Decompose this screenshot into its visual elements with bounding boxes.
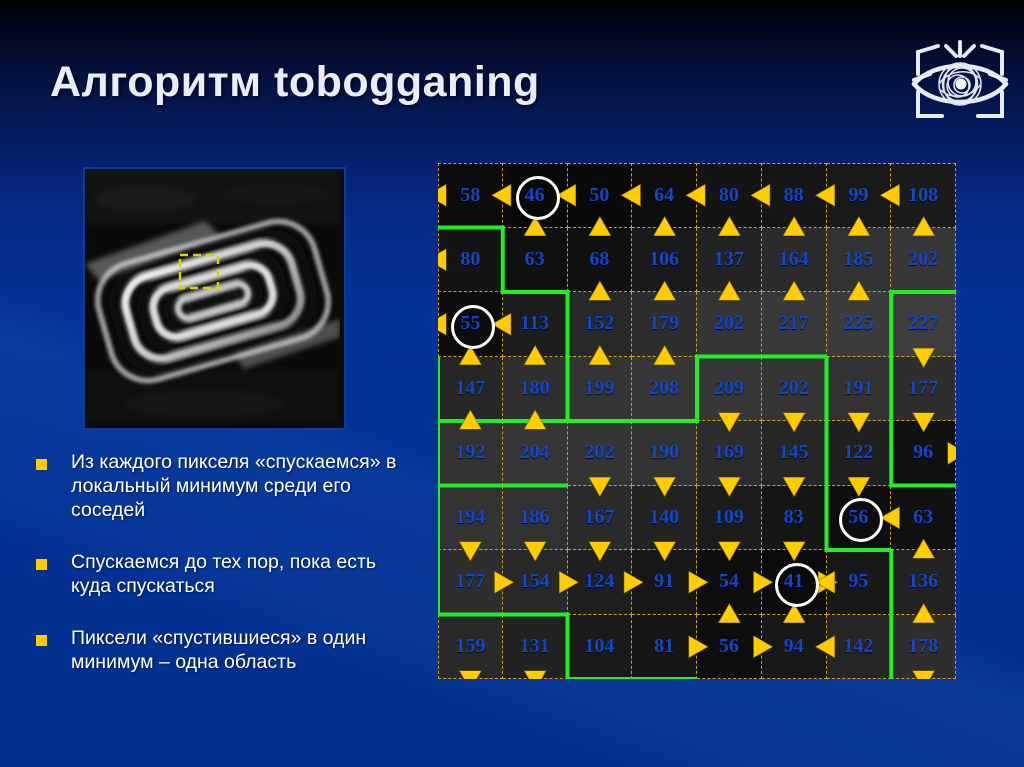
grid-cell: 106 — [632, 228, 697, 293]
cell-value: 140 — [649, 506, 679, 529]
cell-value: 91 — [654, 570, 674, 593]
grid-cell: 108 — [891, 163, 956, 228]
grid-cell: 94 — [762, 615, 827, 680]
grid-cell: 50 — [568, 163, 633, 228]
grid-cell: 217 — [762, 292, 827, 357]
grid-cell: 202 — [762, 357, 827, 422]
tobogganing-grid: 5846506480889910880636810613716418520255… — [438, 163, 956, 679]
grid-cell: 185 — [827, 228, 892, 293]
cell-value: 202 — [908, 248, 938, 271]
grid-cell: 96 — [891, 421, 956, 486]
cell-value: 55 — [460, 312, 480, 335]
cell-value: 41 — [784, 570, 804, 593]
grid-cell: 140 — [632, 486, 697, 551]
eye-logo-icon — [908, 34, 1012, 130]
cell-value: 109 — [714, 506, 744, 529]
cell-value: 124 — [584, 570, 614, 593]
grid-cell: 41 — [762, 550, 827, 615]
grid-cell: 178 — [891, 615, 956, 680]
cell-value: 63 — [913, 506, 933, 529]
slide-root: Алгоритм tobogganing — [0, 0, 1024, 767]
cell-value: 192 — [455, 441, 485, 464]
grid-cell: 159 — [438, 615, 503, 680]
cell-value: 145 — [779, 441, 809, 464]
grid-cell: 209 — [697, 357, 762, 422]
grid-cell: 186 — [503, 486, 568, 551]
grid-cell: 91 — [632, 550, 697, 615]
grid-cell: 190 — [632, 421, 697, 486]
cell-value: 58 — [460, 184, 480, 207]
grid-cell: 191 — [827, 357, 892, 422]
cell-value: 137 — [714, 248, 744, 271]
cell-value: 225 — [843, 312, 873, 335]
grid-cell: 56 — [697, 615, 762, 680]
grid-cell: 80 — [697, 163, 762, 228]
cell-value: 208 — [649, 377, 679, 400]
cell-value: 179 — [649, 312, 679, 335]
grid-cell: 54 — [697, 550, 762, 615]
grid-cell: 192 — [438, 421, 503, 486]
cell-value: 88 — [784, 184, 804, 207]
cell-value: 113 — [520, 312, 549, 335]
cell-value: 80 — [460, 248, 480, 271]
cell-value: 81 — [654, 635, 674, 658]
cell-value: 95 — [848, 570, 868, 593]
cell-value: 202 — [714, 312, 744, 335]
bullet-text: Пиксели «спустившиеся» в один минимум – … — [71, 626, 406, 674]
cell-value: 99 — [848, 184, 868, 207]
cell-value: 104 — [584, 635, 614, 658]
cell-value: 83 — [784, 506, 804, 529]
cell-value: 131 — [520, 635, 550, 658]
cell-value: 80 — [719, 184, 739, 207]
grid-cell: 177 — [891, 357, 956, 422]
grid-cell: 225 — [827, 292, 892, 357]
cell-value: 167 — [584, 506, 614, 529]
cell-value: 199 — [584, 377, 614, 400]
cell-value: 50 — [589, 184, 609, 207]
list-item: Спускаемся до тех пор, пока есть куда сп… — [36, 550, 406, 598]
grid-cell: 202 — [697, 292, 762, 357]
grid-cell: 56 — [827, 486, 892, 551]
grid-cell: 137 — [697, 228, 762, 293]
grid-cell: 167 — [568, 486, 633, 551]
cell-value: 159 — [455, 635, 485, 658]
grid-cell: 199 — [568, 357, 633, 422]
list-item: Из каждого пикселя «спускаемся» в локаль… — [36, 450, 406, 522]
grid-cell: 194 — [438, 486, 503, 551]
cell-value: 217 — [779, 312, 809, 335]
grid-cell: 145 — [762, 421, 827, 486]
grid-cell: 177 — [438, 550, 503, 615]
cell-value: 191 — [843, 377, 873, 400]
grid-cell: 169 — [697, 421, 762, 486]
grid-cell: 136 — [891, 550, 956, 615]
grid-cell: 46 — [503, 163, 568, 228]
grid-cell: 63 — [503, 228, 568, 293]
cell-value: 56 — [719, 635, 739, 658]
cell-value: 194 — [455, 506, 485, 529]
grid-cell: 227 — [891, 292, 956, 357]
cell-value: 147 — [455, 377, 485, 400]
grid-cell: 124 — [568, 550, 633, 615]
grid-cell: 109 — [697, 486, 762, 551]
grid-cell: 88 — [762, 163, 827, 228]
grid-cell: 202 — [891, 228, 956, 293]
cell-value: 96 — [913, 441, 933, 464]
cell-value: 154 — [520, 570, 550, 593]
cell-value: 169 — [714, 441, 744, 464]
cell-value: 185 — [843, 248, 873, 271]
cell-value: 64 — [654, 184, 674, 207]
grid-cell: 80 — [438, 228, 503, 293]
cell-value: 202 — [779, 377, 809, 400]
cell-value: 56 — [848, 506, 868, 529]
grid-cell: 147 — [438, 357, 503, 422]
grid-cell: 83 — [762, 486, 827, 551]
grid-cell: 81 — [632, 615, 697, 680]
grid-cell: 131 — [503, 615, 568, 680]
bullet-text: Из каждого пикселя «спускаемся» в локаль… — [71, 450, 406, 522]
grid-cell: 68 — [568, 228, 633, 293]
cell-value: 204 — [520, 441, 550, 464]
cell-value: 209 — [714, 377, 744, 400]
cell-value: 177 — [455, 570, 485, 593]
grid-cell: 58 — [438, 163, 503, 228]
list-item: Пиксели «спустившиеся» в один минимум – … — [36, 626, 406, 674]
cell-value: 152 — [584, 312, 614, 335]
bullet-square-icon — [36, 459, 47, 470]
grid-cell: 95 — [827, 550, 892, 615]
cell-value: 94 — [784, 635, 804, 658]
grid-cell: 164 — [762, 228, 827, 293]
cell-value: 106 — [649, 248, 679, 271]
cell-value: 54 — [719, 570, 739, 593]
cell-value: 164 — [779, 248, 809, 271]
bullet-square-icon — [36, 559, 47, 570]
bullet-text: Спускаемся до тех пор, пока есть куда сп… — [71, 550, 406, 598]
bullet-square-icon — [36, 635, 47, 646]
grid-cell: 122 — [827, 421, 892, 486]
grid-cells: 5846506480889910880636810613716418520255… — [438, 163, 956, 679]
page-title: Алгоритм tobogganing — [50, 58, 540, 107]
grid-cell: 208 — [632, 357, 697, 422]
cell-value: 122 — [843, 441, 873, 464]
grid-cell: 180 — [503, 357, 568, 422]
cell-value: 186 — [520, 506, 550, 529]
cell-value: 177 — [908, 377, 938, 400]
grid-cell: 63 — [891, 486, 956, 551]
grid-cell: 104 — [568, 615, 633, 680]
cell-value: 63 — [525, 248, 545, 271]
bullet-list: Из каждого пикселя «спускаемся» в локаль… — [36, 450, 406, 702]
ultrasound-sample-image — [83, 167, 346, 430]
grid-cell: 55 — [438, 292, 503, 357]
grid-cell: 179 — [632, 292, 697, 357]
cell-value: 68 — [589, 248, 609, 271]
grid-cell: 142 — [827, 615, 892, 680]
cell-value: 142 — [843, 635, 873, 658]
cell-value: 136 — [908, 570, 938, 593]
cell-value: 108 — [908, 184, 938, 207]
cell-value: 46 — [525, 184, 545, 207]
cell-value: 180 — [520, 377, 550, 400]
cell-value: 202 — [584, 441, 614, 464]
grid-cell: 204 — [503, 421, 568, 486]
grid-cell: 154 — [503, 550, 568, 615]
grid-cell: 202 — [568, 421, 633, 486]
grid-cell: 152 — [568, 292, 633, 357]
grid-cell: 113 — [503, 292, 568, 357]
cell-value: 178 — [908, 635, 938, 658]
cell-value: 190 — [649, 441, 679, 464]
cell-value: 227 — [908, 312, 938, 335]
grid-cell: 64 — [632, 163, 697, 228]
grid-cell: 99 — [827, 163, 892, 228]
